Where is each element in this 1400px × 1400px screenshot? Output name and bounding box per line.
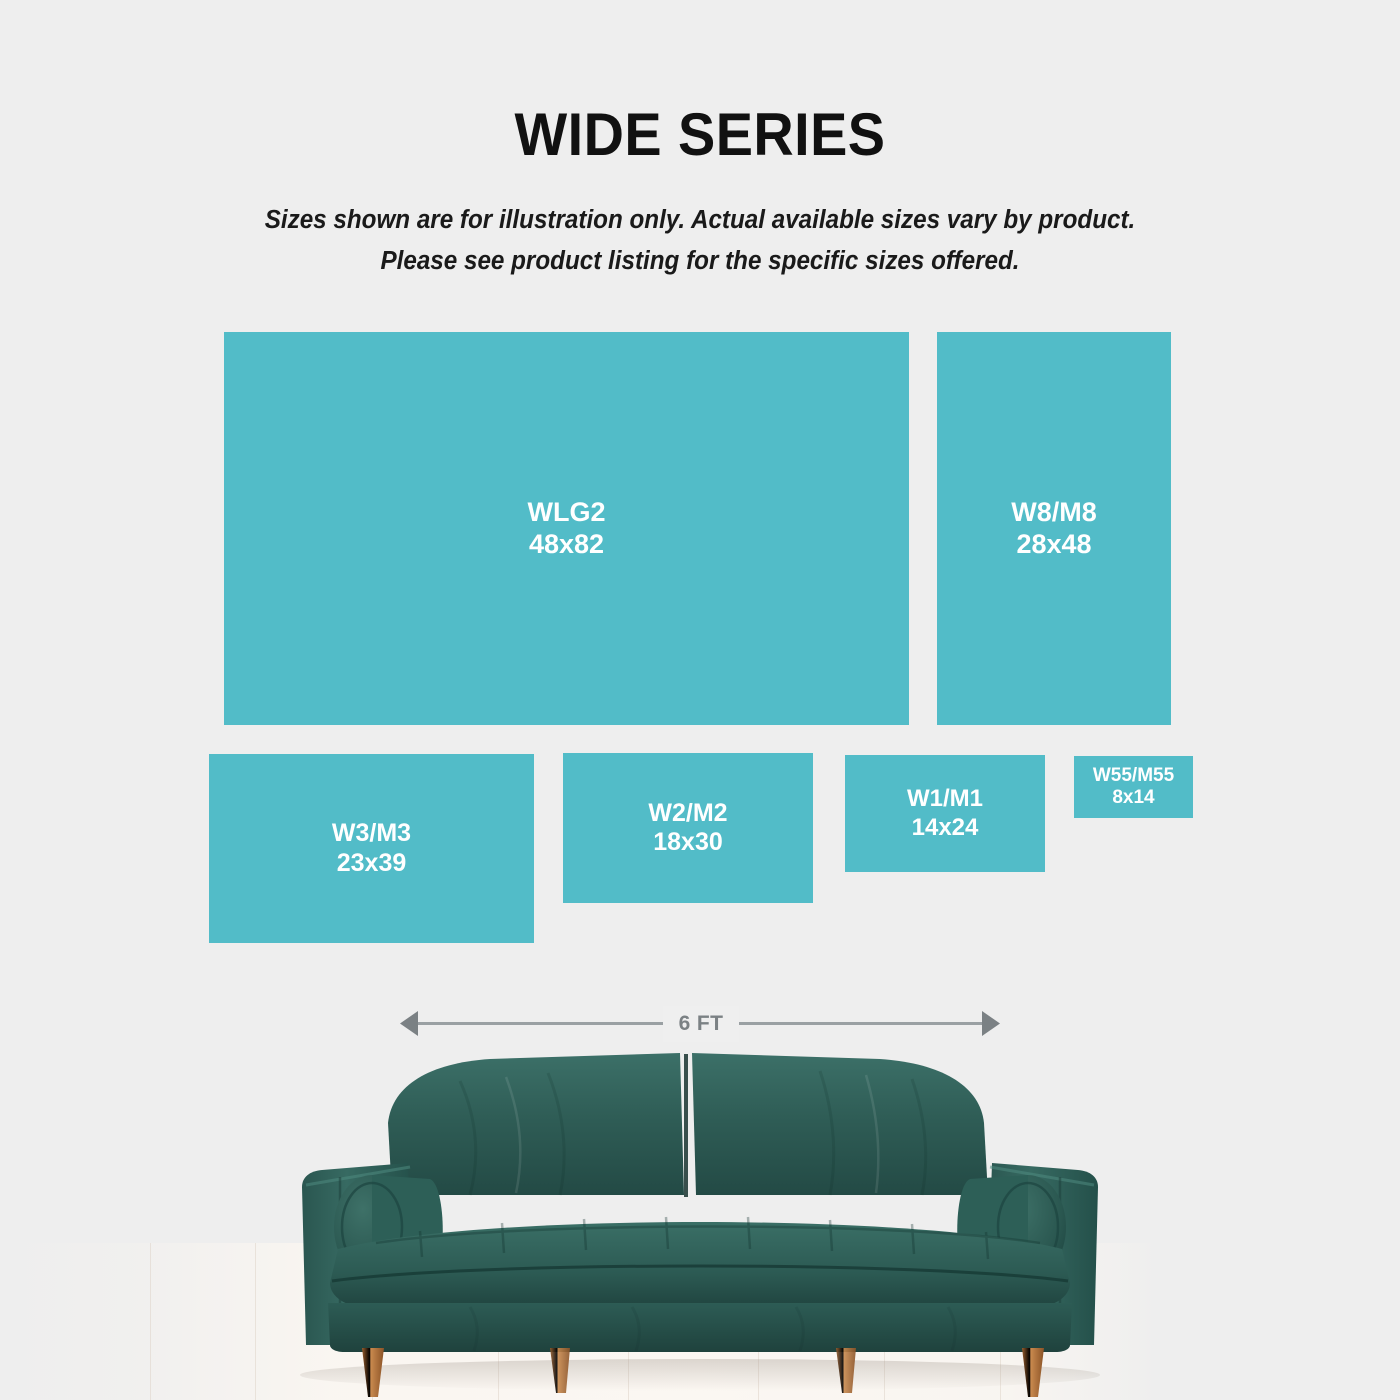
size-dims: 8x14: [1112, 787, 1154, 809]
size-dims: 18x30: [653, 828, 723, 858]
size-dims: 28x48: [1016, 529, 1091, 561]
size-swatch-w2m2[interactable]: W2/M2 18x30: [563, 753, 813, 903]
subtitle-line-2: Please see product listing for the speci…: [35, 241, 1365, 282]
size-code: W3/M3: [332, 819, 411, 849]
scale-label: 6 FT: [663, 1006, 739, 1042]
size-code: W8/M8: [1011, 497, 1097, 529]
sofa-base: [328, 1303, 1072, 1352]
size-chart-page: WIDE SERIES Sizes shown are for illustra…: [0, 0, 1400, 1400]
back-cushion-right: [692, 1053, 988, 1195]
sofa-illustration: [280, 1045, 1120, 1400]
size-code: WLG2: [528, 497, 606, 529]
back-cushion-left: [388, 1053, 684, 1195]
size-swatch-w3m3[interactable]: W3/M3 23x39: [209, 754, 534, 943]
size-swatch-w8m8[interactable]: W8/M8 28x48: [937, 332, 1171, 725]
size-swatch-wlg2[interactable]: WLG2 48x82: [224, 332, 909, 725]
page-subtitle: Sizes shown are for illustration only. A…: [35, 200, 1365, 283]
page-title: WIDE SERIES: [49, 100, 1351, 169]
size-dims: 23x39: [337, 849, 407, 879]
subtitle-line-1: Sizes shown are for illustration only. A…: [35, 200, 1365, 241]
size-code: W1/M1: [907, 785, 983, 813]
size-swatch-w55m55[interactable]: W55/M55 8x14: [1074, 756, 1193, 818]
size-dims: 14x24: [912, 814, 979, 842]
size-code: W2/M2: [648, 799, 727, 829]
size-swatch-w1m1[interactable]: W1/M1 14x24: [845, 755, 1045, 872]
size-dims: 48x82: [529, 529, 604, 561]
size-code: W55/M55: [1093, 765, 1174, 787]
